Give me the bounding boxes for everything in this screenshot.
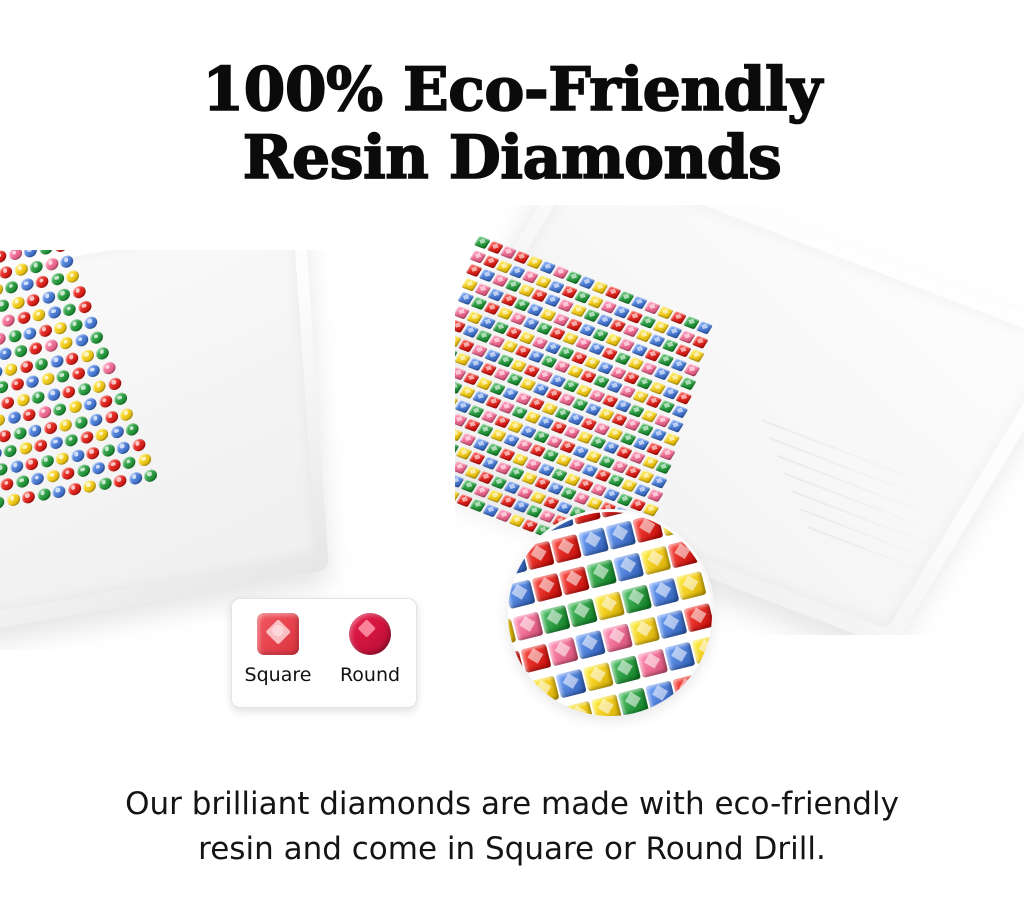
legend-label-round: Round	[328, 664, 412, 686]
drill-bead	[123, 456, 136, 470]
drill-bead	[50, 436, 63, 450]
closeup-drill-bead	[610, 655, 641, 685]
drill-bead	[107, 458, 120, 472]
drill-bead	[66, 269, 79, 283]
closeup-drill-bead	[656, 610, 687, 640]
drill-bead	[51, 272, 64, 286]
drill-bead	[684, 363, 701, 376]
drill-bead	[39, 250, 52, 256]
drill-bead	[0, 283, 3, 297]
drill-bead	[651, 475, 668, 488]
drill-bead	[0, 495, 5, 509]
drill-bead	[46, 469, 59, 483]
drill-bead	[111, 425, 124, 439]
drill-bead	[6, 492, 19, 506]
closeup-drill-bead	[524, 541, 555, 571]
drill-bead	[67, 482, 80, 496]
legend-item-square: Square	[236, 613, 320, 686]
drill-bead	[96, 346, 109, 360]
drill-bead	[54, 250, 67, 253]
drill-bead	[38, 323, 51, 337]
drill-bead	[696, 321, 713, 334]
headline-line-1: 100% Eco-Friendly	[202, 55, 821, 125]
drill-bead	[32, 308, 45, 322]
closeup-drill-bead	[632, 514, 663, 544]
caption-text: Our brilliant diamonds are made with eco…	[0, 782, 1024, 872]
drill-bead	[37, 487, 50, 501]
drill-bead	[692, 335, 709, 348]
drill-bead	[0, 380, 9, 394]
drill-bead	[56, 451, 69, 465]
drill-bead	[108, 376, 121, 390]
drill-bead	[65, 351, 78, 365]
drill-bead	[77, 464, 90, 478]
closeup-drill-bead	[570, 512, 601, 525]
drill-bead	[86, 446, 99, 460]
drill-bead	[26, 293, 39, 307]
drill-bead	[20, 277, 33, 291]
drill-bead	[54, 321, 67, 335]
drill-bead	[20, 359, 33, 373]
drill-bead	[53, 402, 66, 416]
drill-bead	[14, 262, 27, 276]
drill-bead	[41, 372, 54, 386]
drill-bead	[62, 384, 75, 398]
closeup-drill-bead	[508, 580, 536, 610]
drill-bead	[10, 459, 23, 473]
drill-bead	[0, 265, 13, 279]
drill-bead	[48, 305, 61, 319]
drill-bead	[65, 433, 78, 447]
drill-bead	[0, 298, 9, 312]
drill-bead	[1, 395, 14, 409]
drill-bead	[114, 392, 127, 406]
drill-bead	[60, 254, 73, 268]
drill-bead	[659, 447, 676, 460]
drill-bead	[42, 290, 55, 304]
closeup-drill-bead	[543, 512, 574, 531]
drill-bead	[102, 361, 115, 375]
drill-bead	[671, 405, 688, 418]
drill-bead	[50, 354, 63, 368]
closeup-drill-bead	[668, 539, 699, 569]
drill-bead	[83, 397, 96, 411]
drill-bead	[16, 474, 29, 488]
drill-bead	[688, 349, 705, 362]
drill-bead	[663, 433, 680, 446]
drill-bead	[35, 357, 48, 371]
round-drill-gem-icon	[349, 613, 391, 655]
drill-bead	[95, 428, 108, 442]
drill-bead	[99, 394, 112, 408]
drill-bead	[30, 259, 43, 273]
closeup-drill-bead	[567, 598, 598, 628]
drill-bead	[105, 410, 118, 424]
drill-bead	[71, 366, 84, 380]
headline-line-2: Resin Diamonds	[0, 124, 1024, 192]
drill-bead	[13, 426, 26, 440]
legend-item-round: Round	[328, 613, 412, 686]
square-drill-gem-icon	[257, 613, 299, 655]
drill-bead	[26, 375, 39, 389]
closeup-drill-bead	[621, 584, 652, 614]
closeup-drill-bead	[520, 644, 551, 674]
closeup-drill-bead	[691, 635, 712, 665]
drill-bead	[22, 490, 35, 504]
drill-bead	[69, 318, 82, 332]
closeup-drill-bead	[536, 708, 567, 716]
closeup-drill-bead	[660, 512, 691, 536]
closeup-drill-bead	[613, 552, 644, 582]
drill-bead	[144, 468, 157, 482]
round-drill-tray	[0, 250, 370, 650]
drill-bead	[101, 443, 114, 457]
closeup-drill-bead	[629, 616, 660, 646]
closeup-drill-bead	[575, 630, 606, 660]
drill-bead	[75, 333, 88, 347]
closeup-drill-bead	[532, 573, 563, 603]
drill-bead	[87, 364, 100, 378]
drill-bead	[680, 377, 697, 390]
closeup-drill-bead	[645, 680, 676, 710]
drill-bead	[14, 344, 27, 358]
drill-bead	[2, 313, 15, 327]
drill-bead	[0, 331, 6, 345]
closeup-drill-bead	[513, 612, 544, 642]
drill-bead	[74, 415, 87, 429]
drill-bead	[120, 407, 133, 421]
closeup-drill-bead	[602, 623, 633, 653]
drill-bead	[0, 428, 11, 442]
closeup-drill-bead	[583, 662, 614, 692]
drill-bead	[57, 287, 70, 301]
drill-bead	[60, 336, 73, 350]
page-title: 100% Eco-Friendly Resin Diamonds	[0, 56, 1024, 192]
drill-bead	[77, 382, 90, 396]
drill-bead	[0, 477, 13, 491]
drill-bead	[113, 473, 126, 487]
drill-bead	[98, 476, 111, 490]
drill-bead	[0, 250, 7, 264]
closeup-drill-bead	[556, 669, 587, 699]
drill-bead	[647, 489, 664, 502]
closeup-drill-bead	[672, 674, 703, 704]
drill-bead	[78, 300, 91, 314]
closeup-drill-bead	[594, 591, 625, 621]
drill-bead	[7, 410, 20, 424]
drill-bead	[11, 295, 24, 309]
drill-bead	[23, 326, 36, 340]
drill-bead	[34, 438, 47, 452]
closeup-drill-bead	[528, 676, 559, 706]
drill-bead	[4, 362, 17, 376]
drill-bead	[68, 400, 81, 414]
product-infographic: 100% Eco-Friendly Resin Diamonds Square …	[0, 0, 1024, 922]
drill-bead	[72, 285, 85, 299]
drill-bead	[4, 444, 17, 458]
drill-bead	[59, 418, 72, 432]
drill-bead	[44, 420, 57, 434]
closeup-drill-bead	[591, 694, 622, 716]
drill-bead	[126, 422, 139, 436]
drill-bead	[93, 379, 106, 393]
drill-bead	[81, 348, 94, 362]
drill-bead	[16, 392, 29, 406]
closeup-drill-bead	[578, 527, 609, 557]
square-drill-closeup-circle	[508, 512, 712, 716]
drill-bead	[29, 341, 42, 355]
drill-bead	[40, 454, 53, 468]
drill-bead	[0, 413, 5, 427]
closeup-drill-bead	[605, 520, 636, 550]
drill-bead	[0, 347, 12, 361]
drill-bead	[5, 280, 18, 294]
drill-bead	[56, 369, 69, 383]
closeup-drill-bead	[540, 605, 571, 635]
caption-line-1: Our brilliant diamonds are made with eco…	[125, 786, 899, 822]
closeup-drill-bead	[618, 687, 649, 716]
drill-bead	[132, 438, 145, 452]
drill-bead	[129, 471, 142, 485]
drill-bead	[83, 479, 96, 493]
drill-bead	[44, 339, 57, 353]
drill-bead	[24, 250, 37, 258]
drill-bead	[45, 257, 58, 271]
drill-bead	[63, 303, 76, 317]
drill-bead	[84, 315, 97, 329]
drill-bead	[0, 462, 8, 476]
drill-bead	[8, 329, 21, 343]
drill-bead	[667, 419, 684, 432]
legend-label-square: Square	[236, 664, 320, 686]
drill-bead	[17, 311, 30, 325]
drill-bead	[61, 466, 74, 480]
closeup-drill-bead	[597, 512, 628, 518]
drill-bead	[36, 275, 49, 289]
caption-line-2: resin and come in Square or Round Drill.	[0, 827, 1024, 872]
drill-type-legend: Square Round	[231, 598, 417, 708]
drill-bead	[47, 387, 60, 401]
closeup-drill-bead	[548, 637, 579, 667]
drill-bead	[52, 484, 65, 498]
drill-bead	[32, 390, 45, 404]
legend-gems-row: Square Round	[232, 613, 416, 686]
closeup-drill-bead	[637, 648, 668, 678]
drill-bead	[19, 441, 32, 455]
closeup-drill-bead	[559, 566, 590, 596]
closeup-drill-grid	[508, 512, 712, 716]
closeup-drill-bead	[664, 642, 695, 672]
drill-bead	[22, 408, 35, 422]
drill-bead	[10, 377, 23, 391]
drill-bead	[117, 440, 130, 454]
drill-bead	[25, 456, 38, 470]
drill-bead	[38, 405, 51, 419]
closeup-drill-bead	[683, 603, 712, 633]
drill-bead	[92, 461, 105, 475]
closeup-drill-bead	[648, 578, 679, 608]
drill-bead	[80, 430, 93, 444]
closeup-drill-bead	[564, 701, 595, 716]
drill-bead	[138, 453, 151, 467]
closeup-drill-bead	[508, 682, 532, 712]
drill-bead	[31, 472, 44, 486]
drill-bead	[655, 461, 672, 474]
closeup-drill-bead	[640, 546, 671, 576]
drill-bead	[675, 391, 692, 404]
closeup-drill-bead	[676, 571, 707, 601]
drill-bead	[8, 250, 21, 261]
closeup-drill-bead	[586, 559, 617, 589]
drill-bead	[0, 446, 2, 460]
drill-bead	[90, 330, 103, 344]
drill-bead	[71, 448, 84, 462]
drill-bead	[0, 365, 3, 379]
drill-bead	[28, 423, 41, 437]
closeup-drill-bead	[516, 512, 547, 538]
drill-bead	[89, 412, 102, 426]
closeup-drill-bead	[551, 534, 582, 564]
